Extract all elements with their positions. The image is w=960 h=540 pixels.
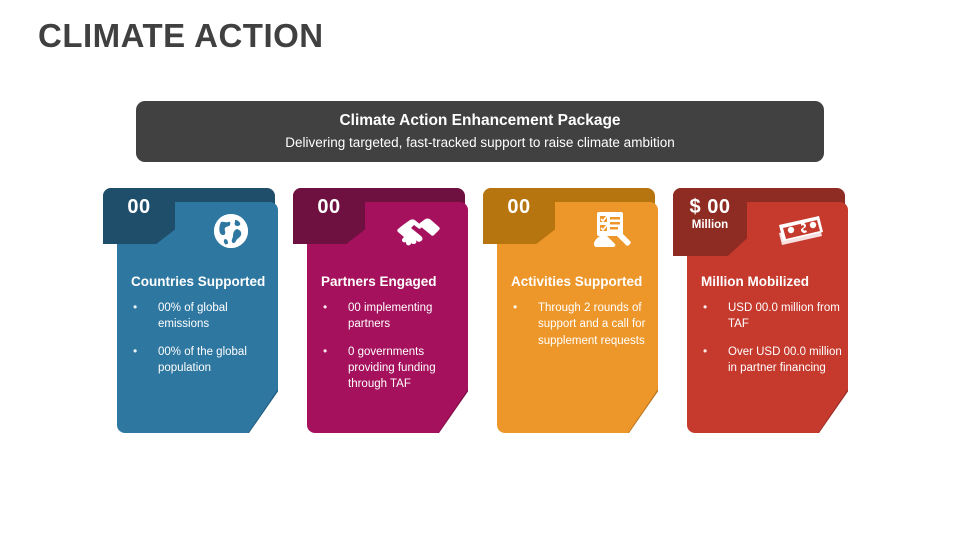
card-bullet-list: Through 2 rounds of support and a call f… <box>510 300 655 360</box>
card-number-ribbon: $ 00 Million <box>673 188 747 256</box>
card-row: 00 Countries Supported 00% of global emi… <box>0 0 960 540</box>
list-item: Over USD 00.0 million in partner financi… <box>700 344 845 377</box>
card-bullet-list: 00 implementing partners 0 governments p… <box>320 300 465 404</box>
list-item: 00% of global emissions <box>130 300 275 333</box>
list-item: USD 00.0 million from TAF <box>700 300 845 333</box>
card-number-ribbon: 00 <box>483 188 555 244</box>
card-badge-value: 00 <box>507 197 530 218</box>
list-item: 0 governments providing funding through … <box>320 344 465 393</box>
card-million-mobilized[interactable]: $ 00 Million Millio <box>673 188 848 433</box>
card-corner-fold <box>818 389 848 433</box>
card-number-ribbon: 00 <box>103 188 175 244</box>
card-partners-engaged[interactable]: 00 Partners Engaged 00 implementing part… <box>293 188 468 433</box>
card-title: Partners Engaged <box>321 274 466 291</box>
card-number-ribbon: 00 <box>293 188 365 244</box>
card-countries-supported[interactable]: 00 Countries Supported 00% of global emi… <box>103 188 278 433</box>
list-item: Through 2 rounds of support and a call f… <box>510 300 655 349</box>
handshake-icon <box>394 206 448 256</box>
globe-icon <box>204 206 258 256</box>
card-corner-fold <box>628 389 658 433</box>
card-badge-value: 00 <box>127 197 150 218</box>
checklist-pen-icon <box>584 206 638 256</box>
card-corner-fold <box>248 389 278 433</box>
card-title: Activities Supported <box>511 274 656 291</box>
card-bullet-list: 00% of global emissions 00% of the globa… <box>130 300 275 387</box>
list-item: 00% of the global population <box>130 344 275 377</box>
list-item: 00 implementing partners <box>320 300 465 333</box>
card-badge-value: 00 <box>317 197 340 218</box>
card-activities-supported[interactable]: 00 <box>483 188 658 433</box>
card-title: Million Mobilized <box>701 274 846 291</box>
card-badge-unit: Million <box>692 219 728 233</box>
card-badge-value: $ 00 <box>690 197 731 218</box>
card-title: Countries Supported <box>131 274 276 291</box>
card-bullet-list: USD 00.0 million from TAF Over USD 00.0 … <box>700 300 845 387</box>
banknotes-icon <box>774 206 828 256</box>
